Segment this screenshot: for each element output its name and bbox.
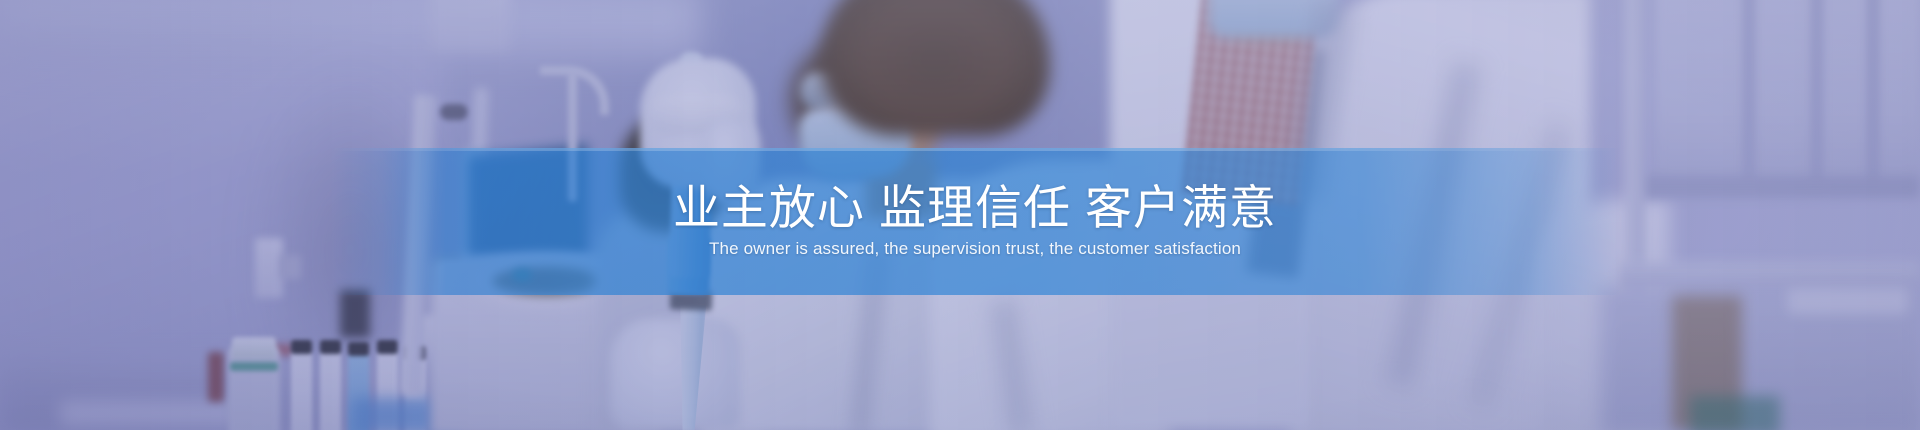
banner-text-block: 业主放心 监理信任 客户满意 The owner is assured, the… [330, 148, 1620, 295]
hero-banner: 业主放心 监理信任 客户满意 The owner is assured, the… [0, 0, 1920, 430]
banner-subline: The owner is assured, the supervision tr… [709, 239, 1241, 259]
banner-headline: 业主放心 监理信任 客户满意 [673, 183, 1277, 233]
